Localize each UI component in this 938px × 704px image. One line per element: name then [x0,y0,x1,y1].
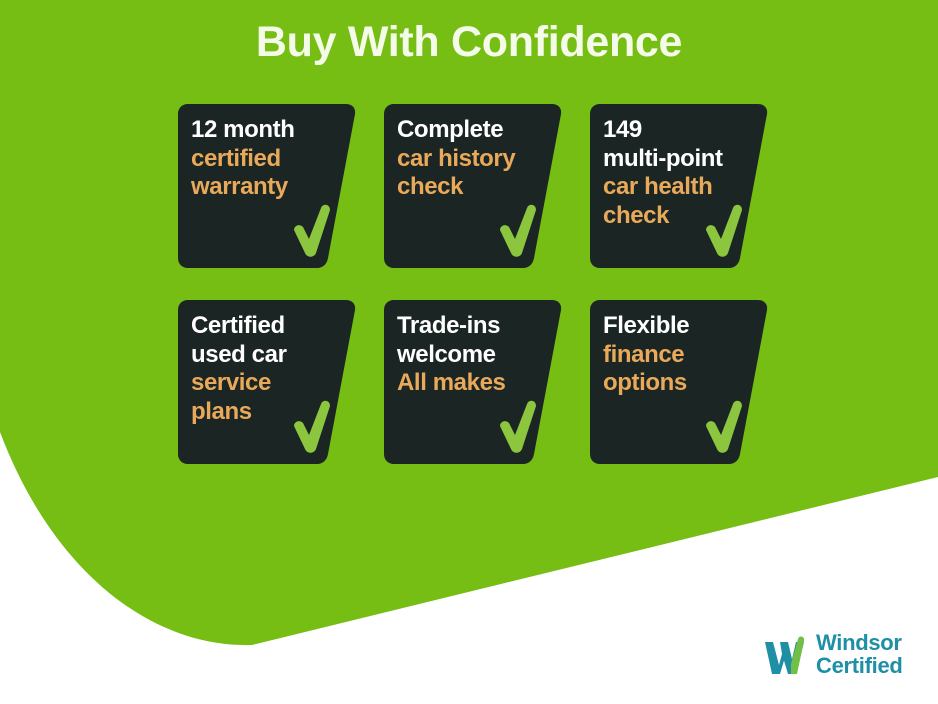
card-line: 149 [603,116,755,145]
card-line: multi-point [603,145,755,174]
benefit-card-warranty[interactable]: 12 month certified warranty [178,104,356,268]
benefit-card-finance[interactable]: Flexible finance options [590,300,768,464]
benefit-card-history-check[interactable]: Complete car history check [384,104,562,268]
card-text-block: Trade-ins welcome All makes [397,312,549,398]
card-line: finance [603,341,755,370]
logo-wordmark: Windsor Certified [816,631,903,677]
check-icon [702,202,746,260]
windsor-w-icon [762,631,808,677]
benefit-card-trade-ins[interactable]: Trade-ins welcome All makes [384,300,562,464]
benefit-card-health-check[interactable]: 149 multi-point car health check [590,104,768,268]
card-line: warranty [191,173,343,202]
card-line: used car [191,341,343,370]
card-line: Trade-ins [397,312,549,341]
check-icon [702,398,746,456]
logo-line-certified: Certified [816,654,903,677]
card-line: All makes [397,369,549,398]
card-line: car health [603,173,755,202]
card-text-block: Complete car history check [397,116,549,202]
slide-canvas: Buy With Confidence 12 month certified w… [0,0,938,704]
check-icon [290,202,334,260]
card-line: options [603,369,755,398]
logo-line-windsor: Windsor [816,631,903,654]
page-title: Buy With Confidence [0,18,938,67]
card-line: service [191,369,343,398]
card-line: car history [397,145,549,174]
card-line: Certified [191,312,343,341]
card-line: welcome [397,341,549,370]
card-line: Flexible [603,312,755,341]
card-text-block: 12 month certified warranty [191,116,343,202]
check-icon [290,398,334,456]
card-line: check [397,173,549,202]
card-line: certified [191,145,343,174]
windsor-certified-logo[interactable]: Windsor Certified [762,625,922,683]
card-text-block: Flexible finance options [603,312,755,398]
card-line: Complete [397,116,549,145]
benefit-card-row-top: 12 month certified warranty Complete car… [178,104,768,268]
check-icon [496,202,540,260]
benefit-card-service-plans[interactable]: Certified used car service plans [178,300,356,464]
benefit-card-grid: 12 month certified warranty Complete car… [178,104,768,496]
check-icon [496,398,540,456]
card-line: 12 month [191,116,343,145]
benefit-card-row-bottom: Certified used car service plans Trade-i… [178,300,768,464]
